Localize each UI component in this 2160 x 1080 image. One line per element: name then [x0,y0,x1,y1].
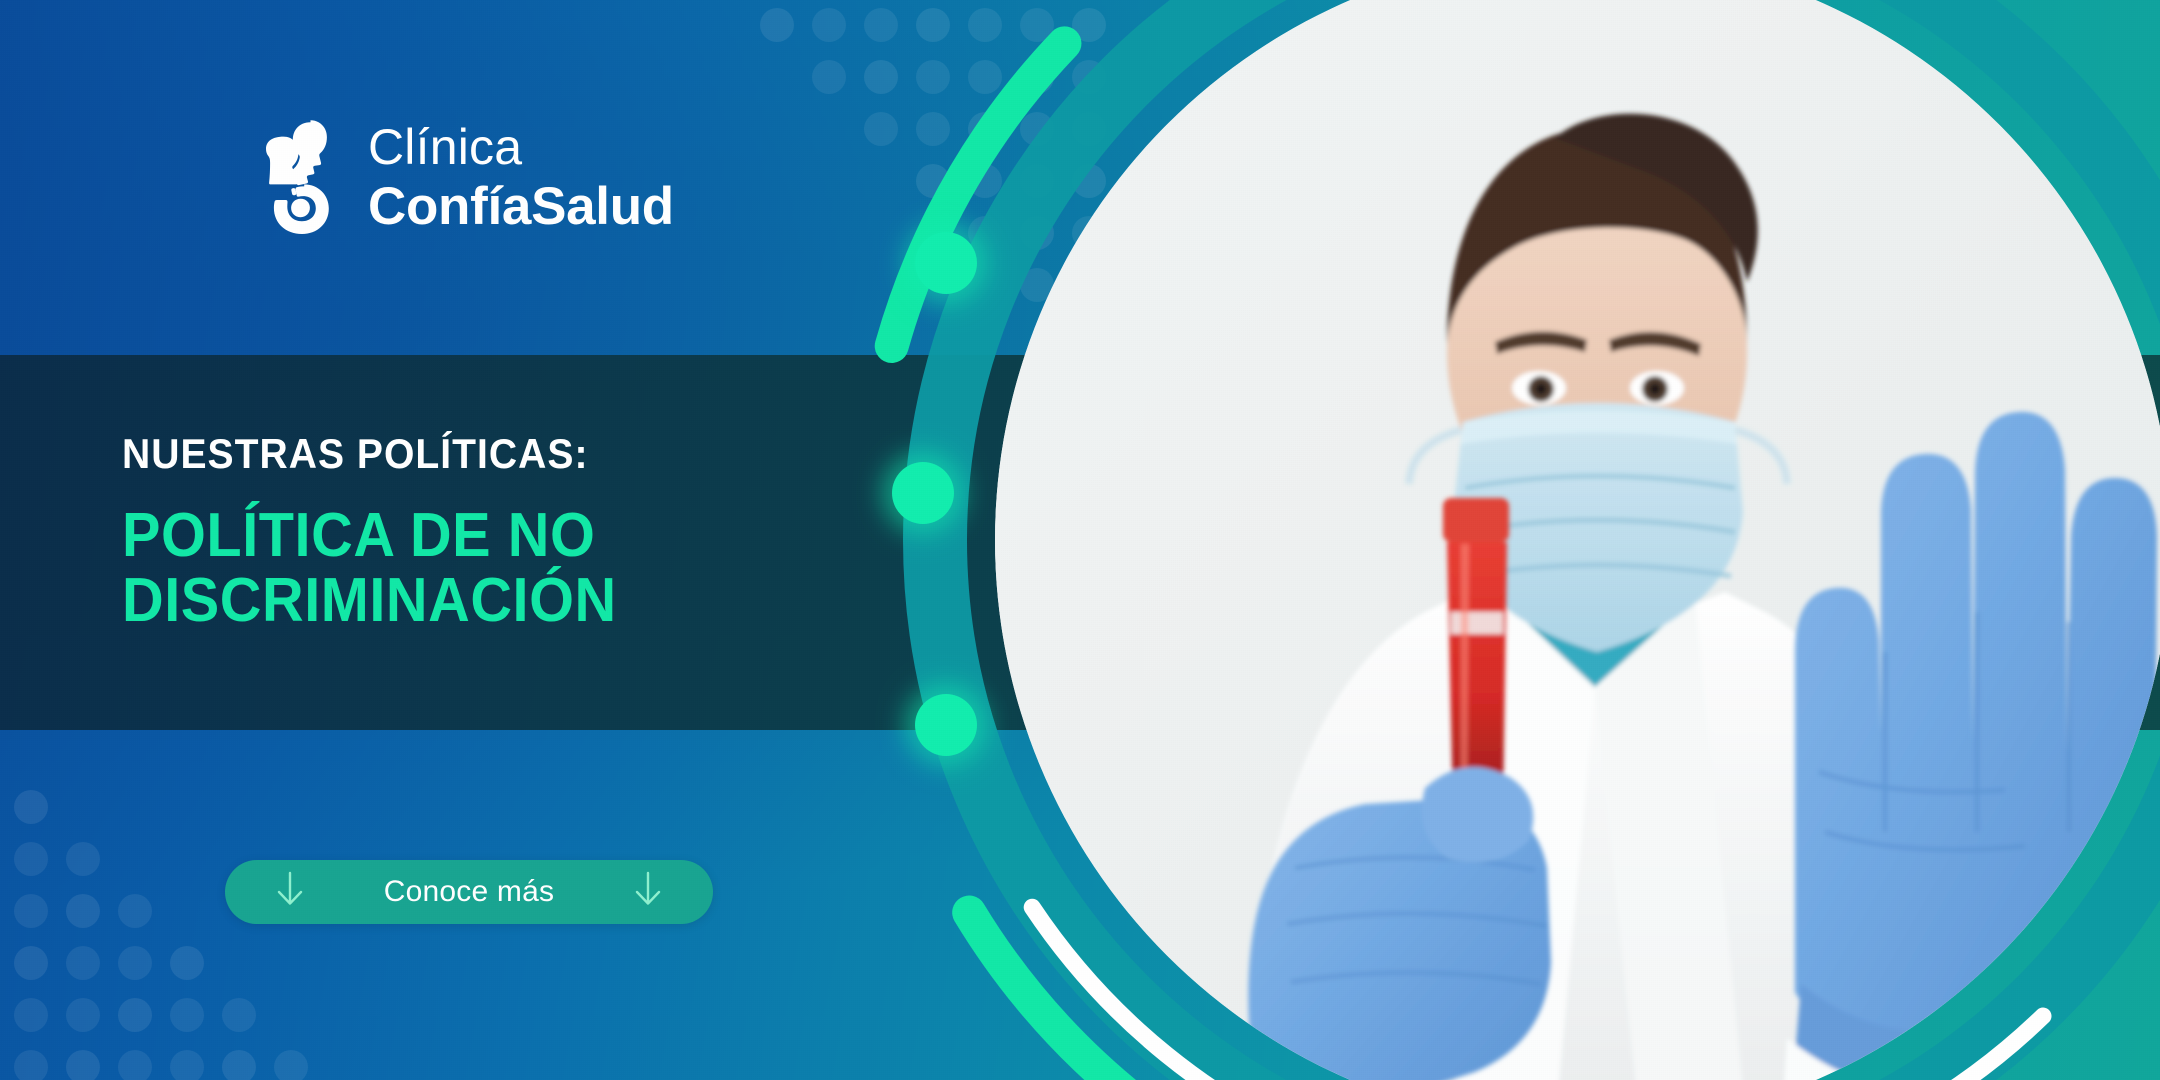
conoce-mas-label: Conoce más [384,875,554,909]
headline-block: NUESTRAS POLÍTICAS: POLÍTICA DE NO DISCR… [122,430,654,632]
brand-name-line2: ConfíaSalud [368,180,674,233]
headline-kicker: NUESTRAS POLÍTICAS: [122,430,617,478]
promo-banner: Clínica ConfíaSalud NUESTRAS POLÍTICAS: … [0,0,2160,1080]
dot-grid-top-right [760,8,1060,268]
arrow-down-icon [631,870,665,914]
mother-and-child-icon [248,118,342,236]
arrow-down-icon [273,870,307,914]
headline-title-line1: POLÍTICA DE NO [122,504,617,567]
brand-name: Clínica ConfíaSalud [368,122,674,233]
conoce-mas-button[interactable]: Conoce más [225,860,713,924]
headline-title-line2: DISCRIMINACIÓN [122,569,617,632]
brand-name-line1: Clínica [368,122,674,172]
dot-grid-bottom-left [14,790,314,1080]
brand-logo[interactable]: Clínica ConfíaSalud [248,118,674,236]
